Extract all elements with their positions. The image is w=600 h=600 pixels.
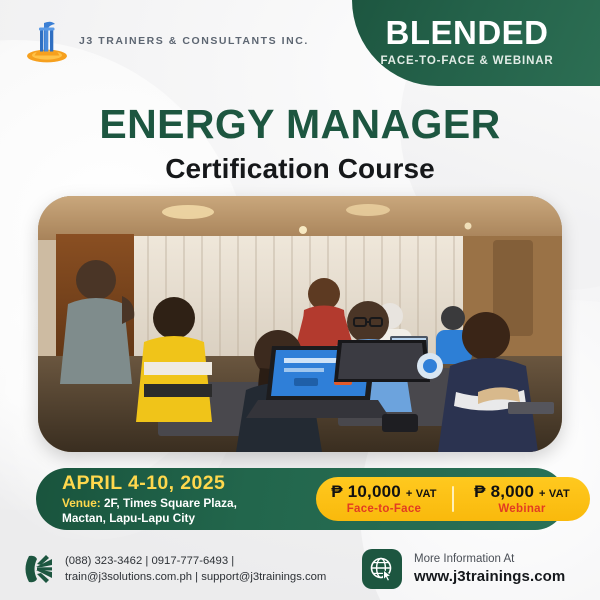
website-url[interactable]: www.j3trainings.com bbox=[414, 569, 565, 586]
contact-lines: (088) 323-3462 | 0917-777-6493 | train@j… bbox=[65, 553, 326, 586]
blended-badge: BLENDED FACE-TO-FACE & WEBINAR bbox=[352, 0, 600, 86]
event-venue: Venue: 2F, Times Square Plaza, Mactan, L… bbox=[62, 496, 294, 525]
training-photo-illustration bbox=[38, 196, 562, 452]
website-block[interactable]: More Information At www.j3trainings.com bbox=[362, 549, 565, 589]
event-band: APRIL 4-10, 2025 Venue: 2F, Times Square… bbox=[36, 468, 566, 530]
brand-lockup: J3 TRAINERS & CONSULTANTS INC. bbox=[26, 18, 309, 64]
website-texts: More Information At www.j3trainings.com bbox=[414, 553, 565, 585]
course-title: ENERGY MANAGER bbox=[0, 103, 600, 146]
price-amount-face-to-face: ₱ 10,000 + VAT bbox=[320, 483, 448, 500]
price-value-1: 10,000 bbox=[348, 482, 401, 501]
price-mode-2: Webinar bbox=[458, 504, 586, 516]
footer: (088) 323-3462 | 0917-777-6493 | train@j… bbox=[0, 538, 600, 600]
j3-pillar-logo-icon bbox=[26, 18, 68, 64]
more-info-label: More Information At bbox=[414, 553, 565, 567]
currency-symbol-1: ₱ bbox=[331, 482, 343, 501]
price-vat-2: + VAT bbox=[539, 488, 570, 500]
price-option-face-to-face[interactable]: ₱ 10,000 + VAT Face-to-Face bbox=[316, 483, 452, 516]
contact-emails: train@j3solutions.com.ph | support@j3tra… bbox=[65, 569, 326, 585]
globe-cursor-icon bbox=[362, 549, 402, 589]
price-vat-1: + VAT bbox=[406, 488, 437, 500]
badge-subtitle: FACE-TO-FACE & WEBINAR bbox=[380, 55, 553, 67]
event-date: APRIL 4-10, 2025 bbox=[62, 473, 294, 493]
course-subtitle: Certification Course bbox=[0, 154, 600, 185]
currency-symbol-2: ₱ bbox=[474, 482, 486, 501]
poster-canvas: J3 TRAINERS & CONSULTANTS INC. BLENDED F… bbox=[0, 0, 600, 600]
brand-name: J3 TRAINERS & CONSULTANTS INC. bbox=[79, 35, 309, 47]
phone-ringing-icon bbox=[20, 553, 54, 585]
venue-line-1: 2F, Times Square Plaza, bbox=[104, 496, 237, 510]
event-details: APRIL 4-10, 2025 Venue: 2F, Times Square… bbox=[36, 473, 294, 525]
price-amount-webinar: ₱ 8,000 + VAT bbox=[458, 483, 586, 500]
price-option-webinar[interactable]: ₱ 8,000 + VAT Webinar bbox=[454, 483, 590, 516]
badge-title: BLENDED bbox=[385, 16, 548, 49]
venue-line-2: Mactan, Lapu-Lapu City bbox=[62, 511, 195, 525]
pricing-pill: ₱ 10,000 + VAT Face-to-Face ₱ 8,000 + VA… bbox=[316, 477, 590, 521]
venue-label: Venue: bbox=[62, 496, 101, 510]
contact-phones: (088) 323-3462 | 0917-777-6493 | bbox=[65, 553, 326, 569]
title-block: ENERGY MANAGER Certification Course bbox=[0, 103, 600, 185]
training-photo bbox=[38, 196, 562, 452]
contact-block: (088) 323-3462 | 0917-777-6493 | train@j… bbox=[20, 553, 340, 586]
price-value-2: 8,000 bbox=[491, 482, 535, 501]
price-mode-1: Face-to-Face bbox=[320, 504, 448, 516]
